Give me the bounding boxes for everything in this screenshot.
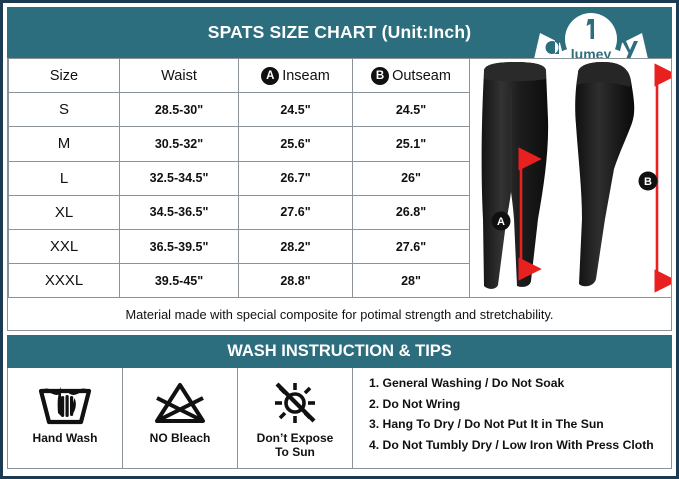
table-row: XXXL 39.5-45" 28.8" 28" — [9, 264, 470, 298]
cell-size: XL — [9, 195, 120, 229]
wash-tip-item: 1. General Washing / Do Not Soak — [369, 377, 671, 389]
badge-b-icon: B — [371, 67, 389, 85]
size-table: Size Waist A Inseam — [8, 58, 470, 298]
column-header-outseam-label: Outseam — [392, 68, 451, 84]
cell-size: XXL — [9, 229, 120, 263]
leggings-side-image — [575, 62, 634, 286]
column-header-waist: Waist — [120, 59, 239, 93]
cell-waist: 36.5-39.5" — [120, 229, 239, 263]
cell-inseam: 25.6" — [239, 127, 353, 161]
care-item-no-bleach: NO Bleach — [123, 368, 238, 468]
table-row: XXL 36.5-39.5" 28.2" 27.6" — [9, 229, 470, 263]
cell-outseam: 28" — [353, 264, 470, 298]
product-image-panel: A B — [470, 58, 672, 298]
cell-size: XXXL — [9, 264, 120, 298]
cell-outseam: 26.8" — [353, 195, 470, 229]
care-item-hand-wash: Hand Wash — [8, 368, 123, 468]
column-header-size: Size — [9, 59, 120, 93]
table-row: M 30.5-32" 25.6" 25.1" — [9, 127, 470, 161]
wash-instruction-banner: WASH INSTRUCTION & TIPS — [7, 335, 672, 368]
cell-outseam: 24.5" — [353, 93, 470, 127]
size-chart-section: Size Waist A Inseam — [7, 58, 672, 298]
brand-logo: lumey — [530, 9, 652, 61]
wash-tip-item: 3. Hang To Dry / Do Not Put It in The Su… — [369, 418, 671, 430]
column-header-size-label: Size — [50, 68, 78, 84]
no-bleach-label: NO Bleach — [150, 431, 211, 445]
cell-outseam: 26" — [353, 161, 470, 195]
hand-wash-label: Hand Wash — [33, 431, 98, 445]
material-note-text: Material made with special composite for… — [126, 307, 554, 322]
cell-waist: 30.5-32" — [120, 127, 239, 161]
hand-wash-icon — [36, 376, 94, 430]
badge-a-icon: A — [261, 67, 279, 85]
table-row: XL 34.5-36.5" 27.6" 26.8" — [9, 195, 470, 229]
wash-tip-item: 2. Do Not Wring — [369, 398, 671, 410]
wash-section-title: WASH INSTRUCTION & TIPS — [227, 342, 452, 361]
column-header-waist-label: Waist — [161, 68, 197, 84]
no-bleach-icon — [151, 376, 209, 430]
cell-inseam: 27.6" — [239, 195, 353, 229]
cell-waist: 32.5-34.5" — [120, 161, 239, 195]
cell-waist: 39.5-45" — [120, 264, 239, 298]
material-note-row: Material made with special composite for… — [7, 298, 672, 331]
cell-inseam: 24.5" — [239, 93, 353, 127]
table-header-row: Size Waist A Inseam — [9, 59, 470, 93]
leggings-front-image — [482, 62, 549, 289]
cell-outseam: 25.1" — [353, 127, 470, 161]
header-banner: SPATS SIZE CHART (Unit:Inch) lumey — [7, 7, 672, 58]
table-row: L 32.5-34.5" 26.7" 26" — [9, 161, 470, 195]
column-header-inseam: A Inseam — [239, 59, 353, 93]
cell-inseam: 28.8" — [239, 264, 353, 298]
cell-size: S — [9, 93, 120, 127]
marker-b-label: B — [644, 176, 652, 188]
no-sun-icon — [266, 376, 324, 430]
marker-a-label: A — [497, 216, 505, 228]
cell-inseam: 28.2" — [239, 229, 353, 263]
no-sun-label-line2: To Sun — [275, 445, 315, 459]
column-header-inseam-label: Inseam — [282, 68, 330, 84]
column-header-outseam: B Outseam — [353, 59, 470, 93]
cell-inseam: 26.7" — [239, 161, 353, 195]
table-row: S 28.5-30" 24.5" 24.5" — [9, 93, 470, 127]
cell-waist: 34.5-36.5" — [120, 195, 239, 229]
cell-outseam: 27.6" — [353, 229, 470, 263]
care-item-no-sun: Don’t Expose To Sun — [238, 368, 353, 468]
page-title: SPATS SIZE CHART (Unit:Inch) — [208, 22, 472, 43]
cell-size: M — [9, 127, 120, 161]
wash-tips-list: 1. General Washing / Do Not Soak 2. Do N… — [353, 368, 671, 468]
outseam-measure-arrow-b: B — [639, 75, 658, 281]
wash-tip-item: 4. Do Not Tumbly Dry / Low Iron With Pre… — [369, 439, 671, 451]
wash-care-section: Hand Wash NO Bleach — [7, 368, 672, 469]
cell-size: L — [9, 161, 120, 195]
no-sun-label-line1: Don’t Expose — [257, 431, 334, 445]
cell-waist: 28.5-30" — [120, 93, 239, 127]
size-chart-poster: SPATS SIZE CHART (Unit:Inch) lumey — [0, 0, 679, 479]
